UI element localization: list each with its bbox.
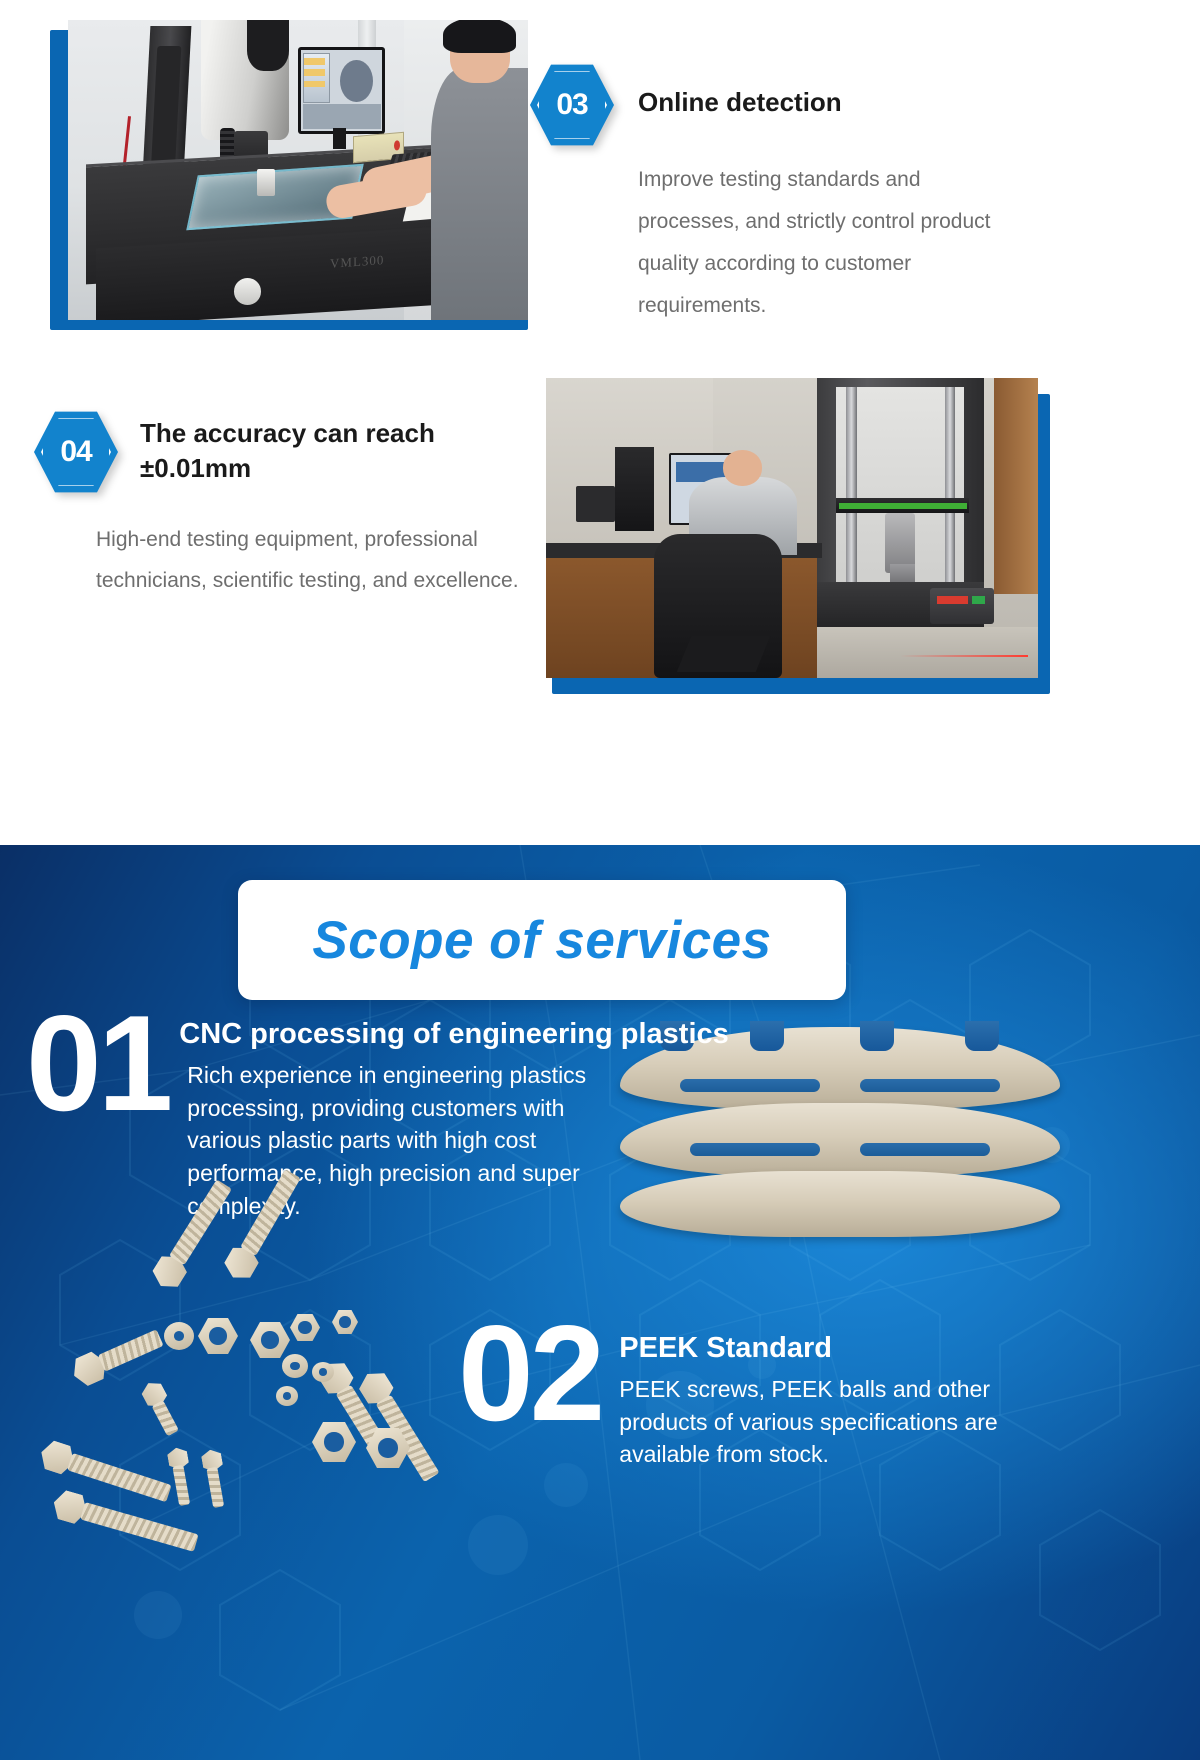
- marketing-page: VML300 03 Online detection Improve testi…: [0, 0, 1200, 1760]
- service-block-cnc-processing: 01 CNC processing of engineering plastic…: [26, 1008, 617, 1222]
- badge-number: 03: [530, 63, 614, 147]
- hexagon-number-badge-04: 04: [34, 410, 118, 494]
- optical-measuring-machine-photo-card: VML300: [28, 10, 528, 330]
- service-description: PEEK screws, PEEK balls and other produc…: [619, 1373, 1039, 1471]
- service-title: CNC processing of engineering plastics: [179, 1018, 617, 1051]
- page-title: Scope of services: [312, 910, 771, 971]
- service-block-peek-standard: 02 PEEK Standard PEEK screws, PEEK balls…: [458, 1318, 1039, 1471]
- service-number: 01: [26, 1008, 169, 1120]
- feature-title: The accuracy can reach ±0.01mm: [140, 410, 480, 486]
- feature-description: High-end testing equipment, professional…: [96, 520, 526, 602]
- badge-number: 04: [34, 410, 118, 494]
- service-title: PEEK Standard: [619, 1332, 1039, 1365]
- peek-screws-nuts-image: [40, 1270, 480, 1570]
- feature-description: Improve testing standards and processes,…: [638, 159, 1018, 327]
- hexagon-number-badge-03: 03: [530, 63, 614, 147]
- scope-title-plate: Scope of services: [238, 880, 846, 1000]
- tensile-testing-machine-photo-card: [540, 372, 1050, 697]
- peek-machined-plate-image: [620, 1025, 1060, 1275]
- feature-block-accuracy: 04 The accuracy can reach ±0.01mm High-e…: [34, 400, 534, 602]
- service-number: 02: [458, 1318, 601, 1430]
- optical-measuring-machine-photo: VML300: [68, 20, 528, 320]
- feature-title: Online detection: [638, 63, 842, 120]
- feature-block-online-detection: 03 Online detection Improve testing stan…: [530, 55, 1090, 327]
- tensile-testing-machine-photo: [546, 378, 1038, 678]
- service-description: Rich experience in engineering plastics …: [187, 1059, 617, 1222]
- features-section: VML300 03 Online detection Improve testi…: [0, 0, 1200, 845]
- scope-of-services-section: Scope of services 01 CNC processing of e: [0, 845, 1200, 1760]
